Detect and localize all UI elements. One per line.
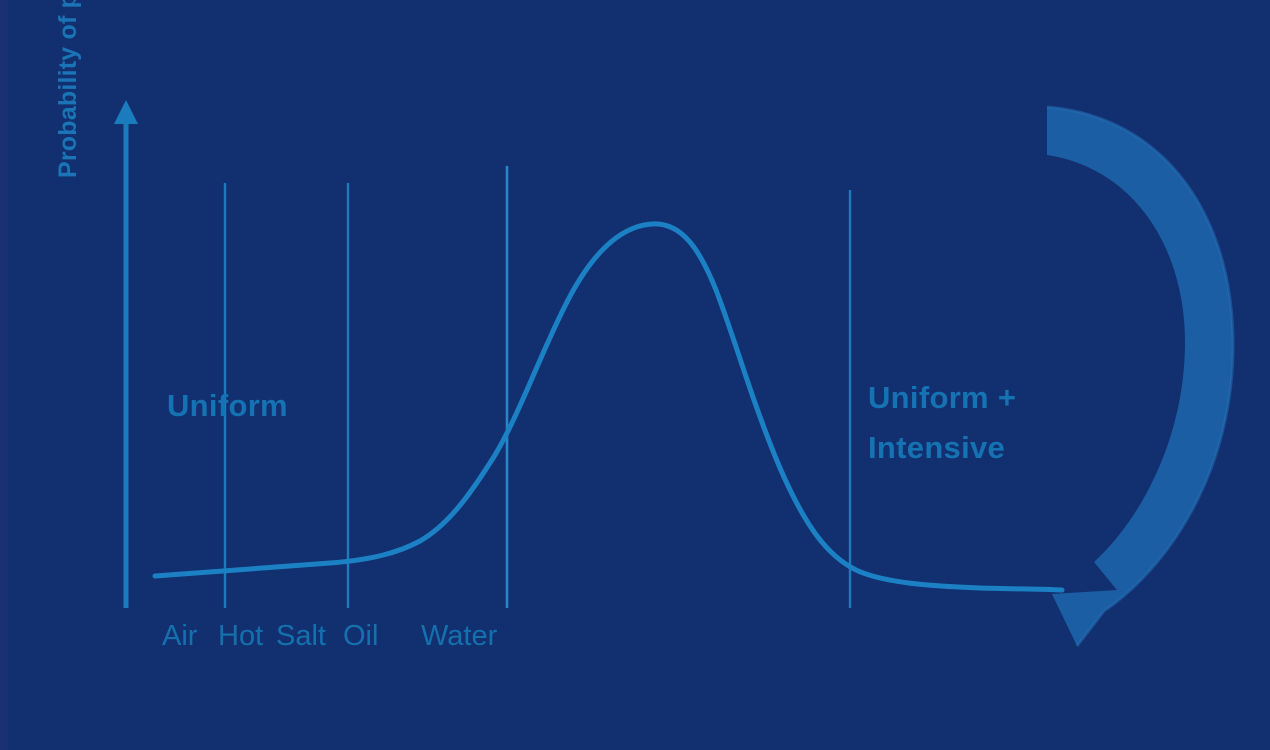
slide-canvas: Probability of part cracking Air Hot Sal… <box>0 0 1270 750</box>
annotation-uniform: Uniform <box>167 388 288 424</box>
y-axis <box>114 100 138 608</box>
x-label-oil: Oil <box>343 620 378 653</box>
x-label-hot: Hot <box>218 620 263 653</box>
x-label-water: Water <box>421 620 497 653</box>
annotation-line-1: Uniform + <box>868 380 1016 415</box>
annotation-uniform-intensive: Uniform +Intensive <box>868 373 1016 473</box>
x-label-salt: Salt <box>276 620 326 653</box>
annotation-line-2: Intensive <box>868 430 1005 465</box>
y-axis-title: Probability of part cracking <box>48 0 88 178</box>
gridlines <box>225 166 850 608</box>
x-label-air: Air <box>162 620 197 653</box>
